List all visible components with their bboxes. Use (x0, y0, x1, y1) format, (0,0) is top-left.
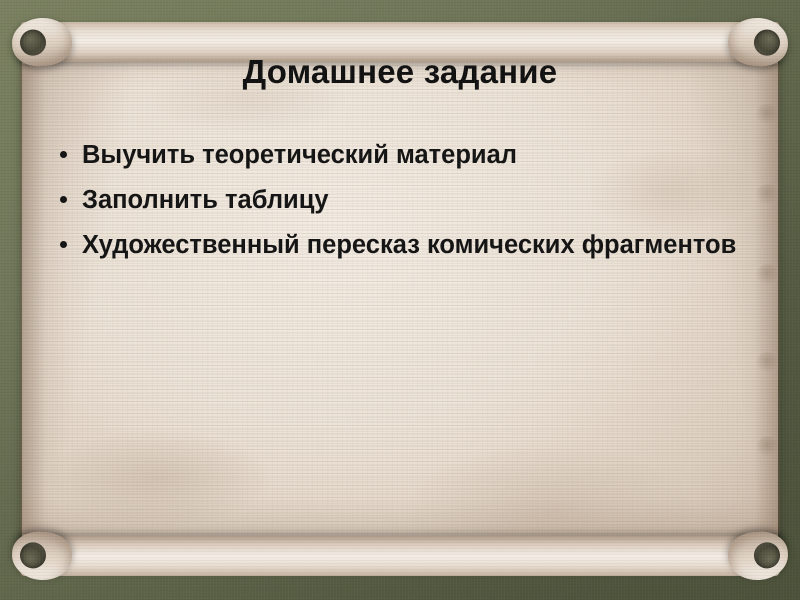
list-item: Заполнить таблицу (54, 185, 744, 216)
list-item: Художественный пересказ комических фрагм… (54, 230, 744, 261)
bullet-dot-icon (60, 196, 67, 203)
bullet-list: Выучить теоретический материал Заполнить… (54, 140, 744, 275)
list-item-label: Выучить теоретический материал (82, 141, 517, 169)
slide-canvas: Домашнее задание Выучить теоретический м… (0, 0, 800, 600)
bullet-dot-icon (60, 241, 67, 248)
bullet-dot-icon (60, 151, 67, 158)
scroll-graphic: Домашнее задание Выучить теоретический м… (8, 12, 792, 588)
list-item: Выучить теоретический материал (54, 140, 744, 171)
slide-title: Домашнее задание (68, 54, 732, 90)
list-item-label: Заполнить таблицу (82, 186, 329, 214)
slide-content: Домашнее задание Выучить теоретический м… (8, 12, 792, 588)
list-item-label: Художественный пересказ комических фрагм… (82, 231, 736, 259)
